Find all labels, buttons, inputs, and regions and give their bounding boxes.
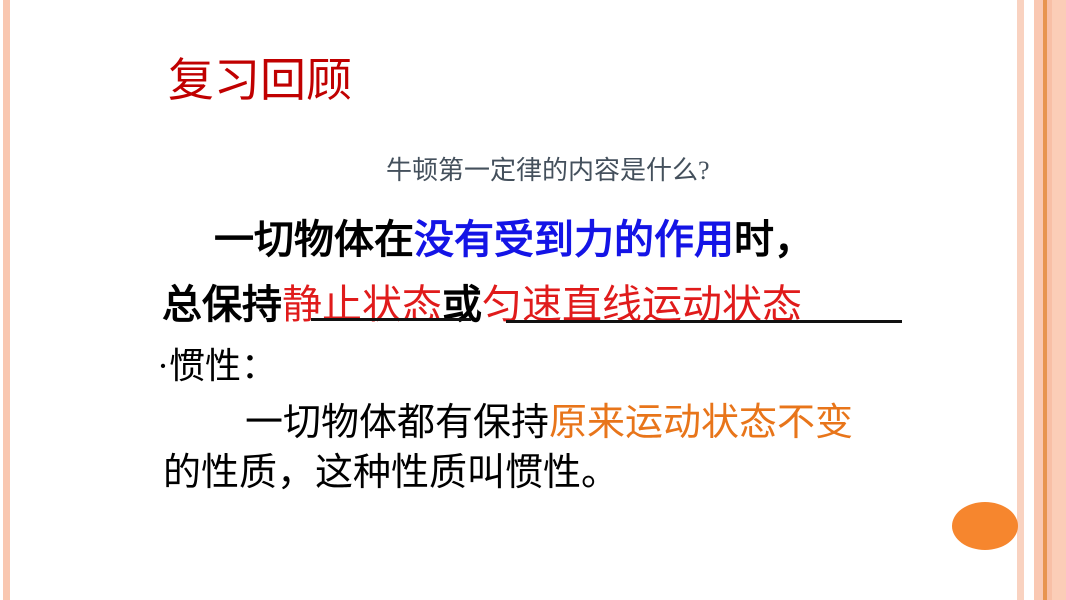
right-border-stripe-1: [1017, 0, 1024, 600]
right-border-stripe-2: [1034, 0, 1043, 600]
right-border-stripe-5: [1052, 0, 1066, 600]
inertia-definition: 一切物体都有保持原来运动状态不变 的性质，这种性质叫惯性。: [163, 398, 993, 498]
slide-canvas: 复习回顾 牛顿第一定律的内容是什么? 一切物体在没有受到力的作用时， 总保持静止…: [0, 0, 1066, 600]
inertia-line1-segment-orange: 原来运动状态不变: [549, 402, 853, 444]
slide-title: 复习回顾: [168, 58, 352, 104]
question-subtitle: 牛顿第一定律的内容是什么?: [386, 158, 710, 184]
inertia-line-1: 一切物体都有保持原来运动状态不变: [163, 398, 993, 448]
law-line1-segment-black-2: 时，: [734, 217, 814, 262]
law-line-2: 总保持静止状态或匀速直线运动状态: [162, 273, 962, 338]
underline-uniform-motion-state: [506, 320, 902, 323]
newtons-first-law-statement: 一切物体在没有受到力的作用时， 总保持静止状态或匀速直线运动状态: [162, 208, 962, 338]
decorative-ellipse: [952, 502, 1018, 550]
law-line1-segment-blue: 没有受到力的作用: [414, 217, 734, 262]
inertia-bullet-heading: ·惯性：: [157, 348, 277, 384]
law-line1-segment-black-1: 一切物体在: [214, 217, 414, 262]
inertia-line-2: 的性质，这种性质叫惯性。: [163, 448, 993, 498]
left-border-stripe: [3, 0, 10, 600]
law-line2-segment-black-1: 总保持: [162, 282, 282, 327]
law-line-1: 一切物体在没有受到力的作用时，: [162, 208, 962, 273]
inertia-line2-segment-black: 的性质，这种性质叫惯性。: [163, 452, 619, 494]
underline-static-state: [311, 318, 471, 321]
inertia-line1-segment-black: 一切物体都有保持: [245, 402, 549, 444]
